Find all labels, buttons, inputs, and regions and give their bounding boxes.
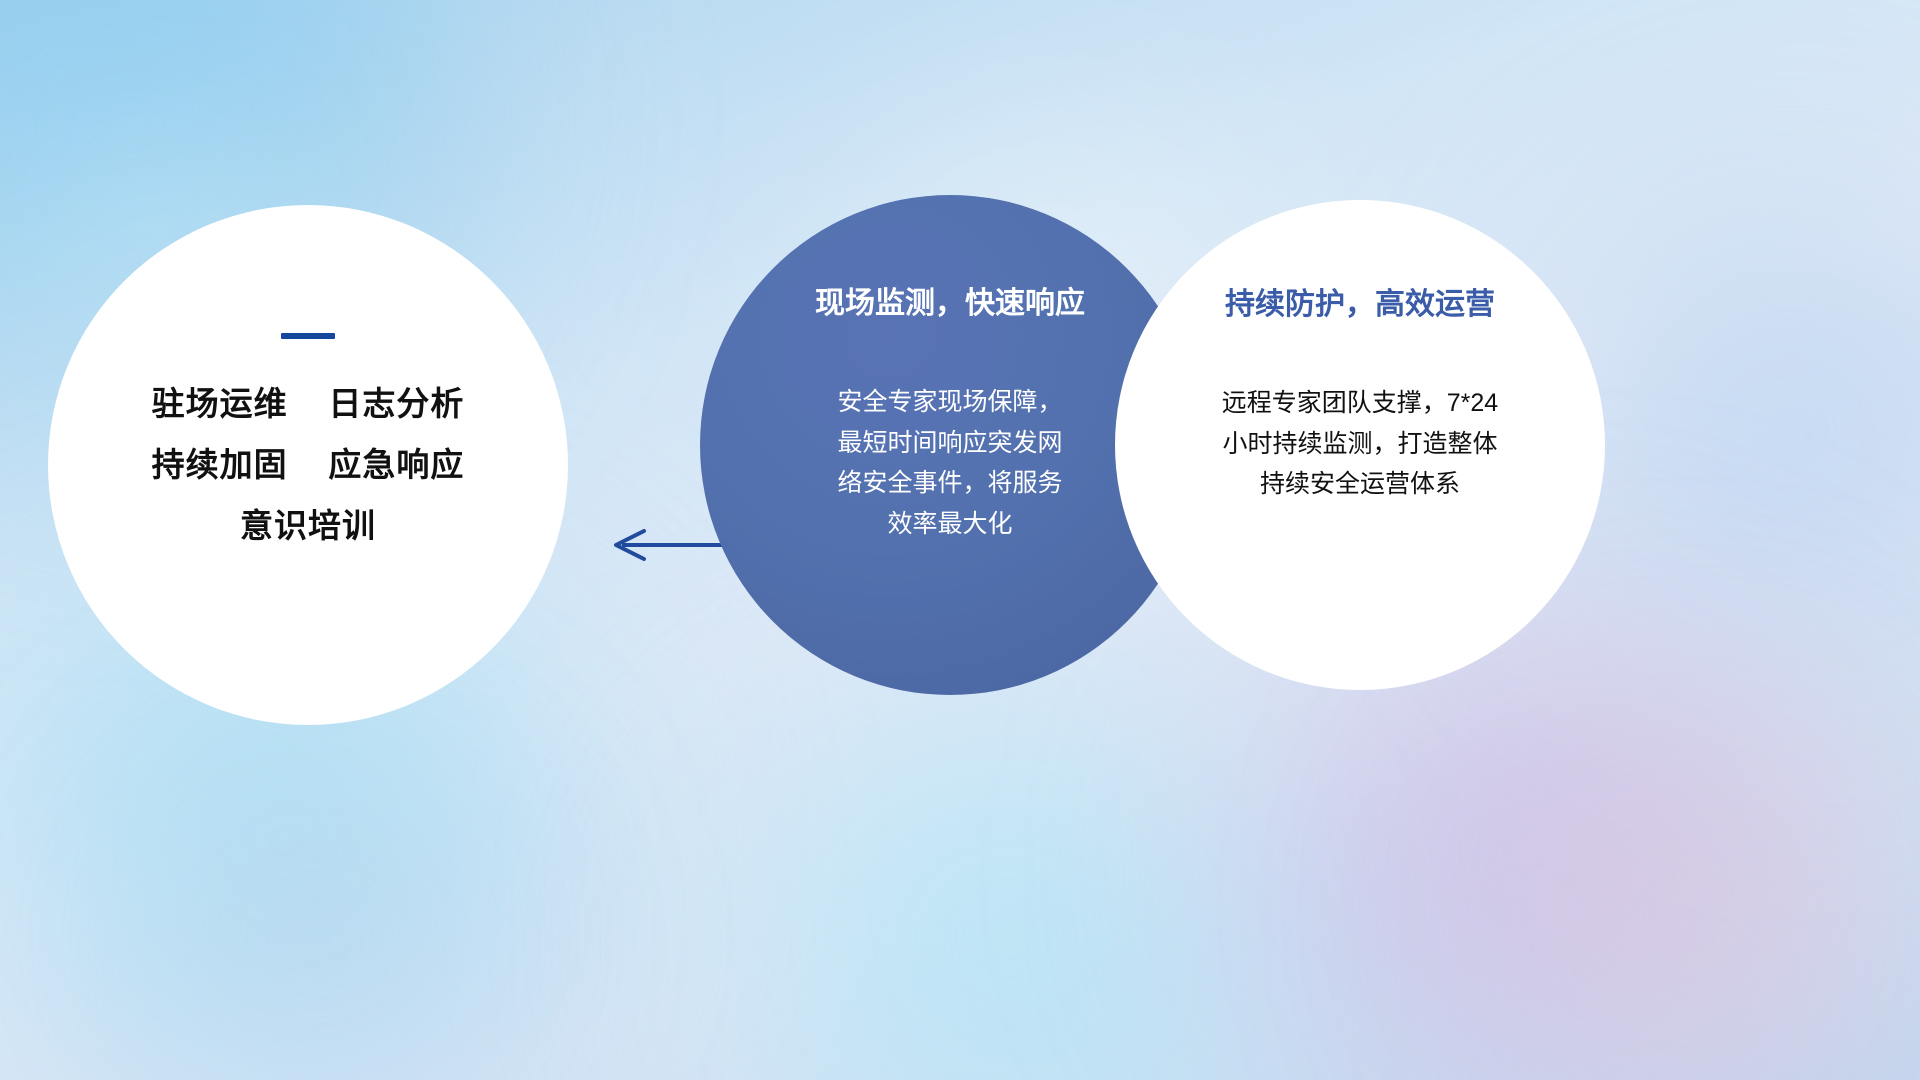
onsite-monitoring-body: 安全专家现场保障， 最短时间响应突发网 络安全事件，将服务 效率最大化 <box>775 382 1125 544</box>
onsite-monitoring-body-line-1: 安全专家现场保障， <box>775 382 1125 423</box>
onsite-monitoring-title: 现场监测，快速响应 <box>815 287 1085 320</box>
capability-line-1: 驻场运维 日志分析 <box>152 387 465 420</box>
onsite-monitoring-body-line-2: 最短时间响应突发网 <box>775 423 1125 464</box>
onsite-monitoring-body-line-3: 络安全事件，将服务 <box>775 463 1125 504</box>
continuous-protection-circle[interactable]: 持续防护，高效运营 远程专家团队支撑，7*24 小时持续监测，打造整体 持续安全… <box>1115 200 1605 690</box>
continuous-protection-title: 持续防护，高效运营 <box>1225 288 1495 321</box>
capability-keyword-list: 驻场运维 日志分析 持续加固 应急响应 意识培训 <box>152 387 465 542</box>
capability-line-3: 意识培训 <box>240 509 376 542</box>
continuous-protection-body: 远程专家团队支撑，7*24 小时持续监测，打造整体 持续安全运营体系 <box>1175 383 1545 505</box>
onsite-monitoring-body-line-4: 效率最大化 <box>775 504 1125 545</box>
continuous-protection-body-line-1: 远程专家团队支撑，7*24 <box>1175 383 1545 424</box>
continuous-protection-body-line-2: 小时持续监测，打造整体 <box>1175 424 1545 465</box>
blue-dash-divider-icon <box>281 333 335 339</box>
capability-line-2: 持续加固 应急响应 <box>152 448 465 481</box>
continuous-protection-body-line-3: 持续安全运营体系 <box>1175 464 1545 505</box>
capability-circle-left[interactable]: 驻场运维 日志分析 持续加固 应急响应 意识培训 <box>48 205 568 725</box>
